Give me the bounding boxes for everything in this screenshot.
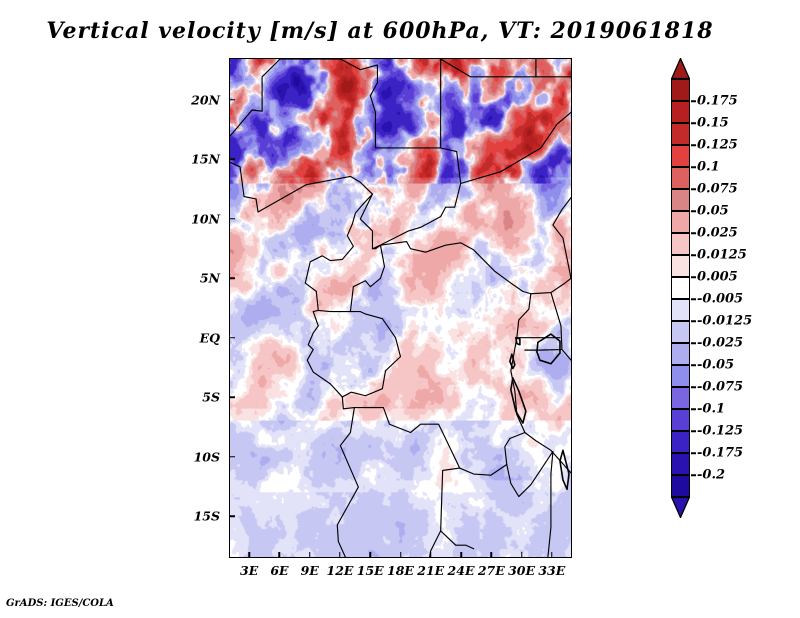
longitude-label: 15E xyxy=(357,563,384,578)
colorbar-label: -0.0125 xyxy=(697,314,752,329)
country-borders-overlay xyxy=(230,59,571,557)
latitude-tick xyxy=(229,277,235,279)
colorbar-segment xyxy=(671,321,690,343)
colorbar-label: 0.025 xyxy=(697,226,738,241)
colorbar-tick xyxy=(691,342,696,344)
colorbar-segment xyxy=(671,409,690,431)
longitude-tick xyxy=(521,552,523,558)
longitude-label: 33E xyxy=(538,563,565,578)
longitude-label: 6E xyxy=(270,563,288,578)
longitude-tick xyxy=(551,552,553,558)
longitude-label: 12E xyxy=(327,563,354,578)
colorbar-tick xyxy=(691,320,696,322)
colorbar-segment xyxy=(671,431,690,453)
latitude-label: EQ xyxy=(200,330,220,345)
colorbar-segment xyxy=(671,365,690,387)
longitude-label: 18E xyxy=(387,563,414,578)
latitude-tick xyxy=(229,158,235,160)
colorbar-tick xyxy=(691,276,696,278)
latitude-label: 10S xyxy=(194,449,220,464)
longitude-label: 3E xyxy=(240,563,258,578)
latitude-label: 10N xyxy=(191,211,220,226)
latitude-tick xyxy=(229,456,235,458)
colorbar-segment xyxy=(671,343,690,365)
colorbar-label: 0.1 xyxy=(697,160,720,175)
map-plot-area xyxy=(229,58,572,558)
colorbar-tick xyxy=(691,474,696,476)
longitude-tick xyxy=(339,552,341,558)
longitude-label: 24E xyxy=(448,563,475,578)
longitude-tick xyxy=(248,552,250,558)
colorbar-tick xyxy=(691,100,696,102)
longitude-label: 27E xyxy=(478,563,505,578)
colorbar-label: -0.075 xyxy=(697,380,743,395)
colorbar-segment xyxy=(671,475,690,497)
latitude-label: 5N xyxy=(200,271,220,286)
longitude-tick xyxy=(400,552,402,558)
colorbar-label: -0.05 xyxy=(697,358,734,373)
colorbar-label: -0.125 xyxy=(697,424,743,439)
colorbar-segment xyxy=(671,211,690,233)
colorbar-label: 0.005 xyxy=(697,270,738,285)
colorbar-label: -0.025 xyxy=(697,336,743,351)
colorbar-label: -0.005 xyxy=(697,292,743,307)
longitude-tick xyxy=(430,552,432,558)
longitude-tick xyxy=(309,552,311,558)
longitude-label: 30E xyxy=(508,563,535,578)
longitude-tick xyxy=(460,552,462,558)
colorbar-tick xyxy=(691,122,696,124)
colorbar-segment xyxy=(671,123,690,145)
colorbar-segment xyxy=(671,387,690,409)
longitude-tick xyxy=(279,552,281,558)
colorbar-label: -0.175 xyxy=(697,446,743,461)
colorbar-tick xyxy=(691,254,696,256)
colorbar-segment xyxy=(671,233,690,255)
colorbar-tick xyxy=(691,408,696,410)
colorbar-label: 0.125 xyxy=(697,138,738,153)
latitude-tick xyxy=(229,218,235,220)
latitude-label: 20N xyxy=(191,92,220,107)
colorbar-segment xyxy=(671,277,690,299)
longitude-tick xyxy=(491,552,493,558)
latitude-tick xyxy=(229,99,235,101)
attribution-footer: GrADS: IGES/COLA xyxy=(6,598,114,609)
latitude-label: 5S xyxy=(202,390,220,405)
colorbar-label: 0.075 xyxy=(697,182,738,197)
colorbar-segment xyxy=(671,255,690,277)
latitude-tick xyxy=(229,337,235,339)
colorbar-label: -0.2 xyxy=(697,468,725,483)
colorbar-label: 0.15 xyxy=(697,116,729,131)
colorbar-segment xyxy=(671,101,690,123)
colorbar-segment xyxy=(671,167,690,189)
colorbar-segment xyxy=(671,299,690,321)
colorbar-label: -0.1 xyxy=(697,402,725,417)
longitude-label: 9E xyxy=(301,563,319,578)
colorbar-label: 0.0125 xyxy=(697,248,747,263)
colorbar: 0.1750.150.1250.10.0750.050.0250.01250.0… xyxy=(671,58,791,563)
colorbar-bottom-arrow xyxy=(671,497,690,518)
colorbar-tick xyxy=(691,298,696,300)
latitude-tick xyxy=(229,516,235,518)
colorbar-label: 0.05 xyxy=(697,204,729,219)
colorbar-tick xyxy=(691,144,696,146)
colorbar-tick xyxy=(691,232,696,234)
colorbar-tick xyxy=(691,188,696,190)
colorbar-top-arrow xyxy=(671,58,690,79)
colorbar-tick xyxy=(691,364,696,366)
colorbar-label: 0.175 xyxy=(697,94,738,109)
colorbar-segment xyxy=(671,453,690,475)
colorbar-segment xyxy=(671,189,690,211)
colorbar-tick xyxy=(691,210,696,212)
colorbar-segment xyxy=(671,79,690,101)
page-title: Vertical velocity [m/s] at 600hPa, VT: 2… xyxy=(0,18,760,44)
latitude-label: 15S xyxy=(194,509,220,524)
colorbar-tick xyxy=(691,430,696,432)
colorbar-tick xyxy=(691,386,696,388)
latitude-label: 15N xyxy=(191,152,220,167)
colorbar-segment xyxy=(671,145,690,167)
longitude-tick xyxy=(369,552,371,558)
latitude-tick xyxy=(229,397,235,399)
colorbar-tick xyxy=(691,166,696,168)
longitude-label: 21E xyxy=(417,563,444,578)
colorbar-tick xyxy=(691,452,696,454)
